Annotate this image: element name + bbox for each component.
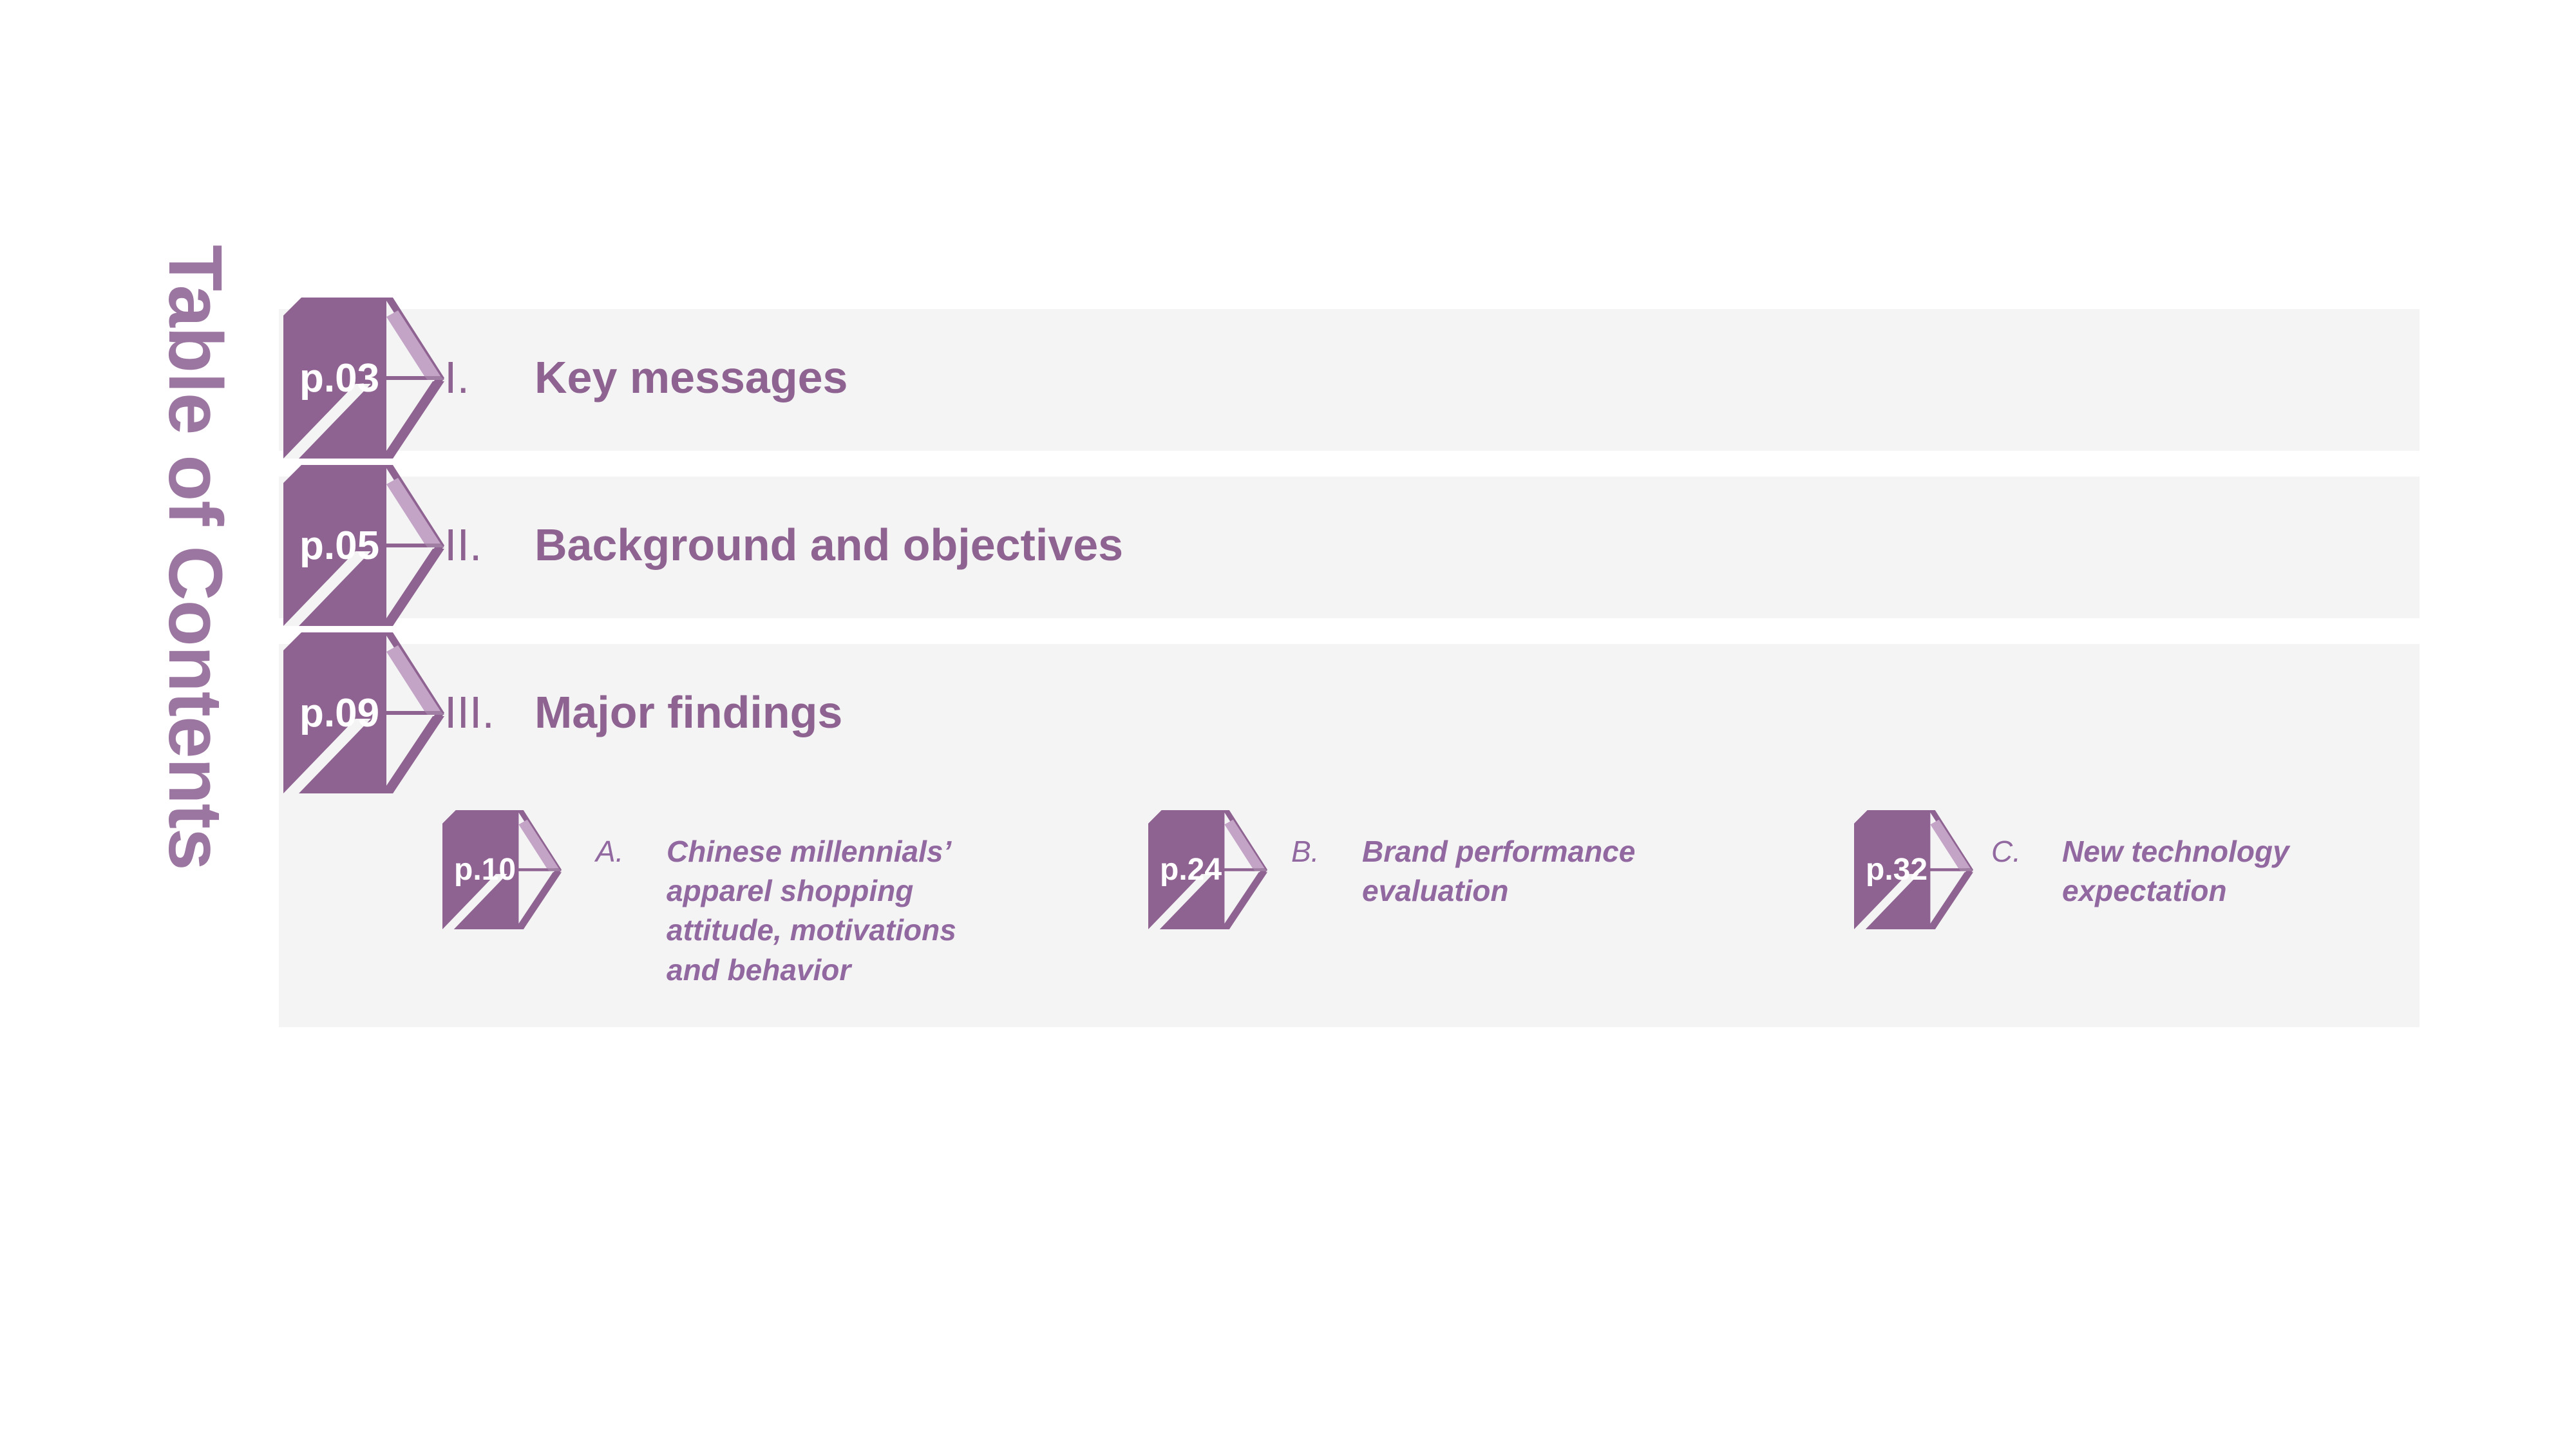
page-badge-subsection-a[interactable]: p.10 xyxy=(442,810,562,929)
section-label-3: Major findings xyxy=(535,688,842,737)
section-label-1: Key messages xyxy=(535,353,848,402)
page-badge-section-3[interactable]: p.09 xyxy=(283,632,444,793)
subsection-numeral-b: B. xyxy=(1291,832,1362,871)
section-title-2[interactable]: II. Background and objectives xyxy=(444,520,1123,570)
arrow-badge-icon xyxy=(283,298,444,459)
subsection-label-a: Chinese millennials’ apparel shopping at… xyxy=(667,832,956,990)
page-badge-section-1[interactable]: p.03 xyxy=(283,298,444,459)
section-numeral-1: I. xyxy=(444,353,535,402)
page-badge-subsection-c[interactable]: p.32 xyxy=(1854,810,1973,929)
page-title: Table of Contents xyxy=(147,245,243,1069)
section-numeral-2: II. xyxy=(444,520,535,570)
arrow-badge-icon xyxy=(283,465,444,626)
section-label-2: Background and objectives xyxy=(535,520,1123,570)
arrow-badge-icon xyxy=(1148,810,1267,929)
subsection-title-b[interactable]: B. Brand performance evaluation xyxy=(1291,832,1703,911)
section-title-1[interactable]: I. Key messages xyxy=(444,353,848,402)
subsection-numeral-a: A. xyxy=(596,832,667,871)
section-title-3[interactable]: III. Major findings xyxy=(444,688,842,737)
subsection-label-c: New technology expectation xyxy=(2062,832,2289,911)
arrow-badge-icon xyxy=(283,632,444,793)
section-numeral-3: III. xyxy=(444,688,535,737)
arrow-badge-icon xyxy=(1854,810,1973,929)
subsection-numeral-c: C. xyxy=(1991,832,2062,871)
subsection-title-a[interactable]: A. Chinese millennials’ apparel shopping… xyxy=(596,832,995,990)
subsection-title-c[interactable]: C. New technology expectation xyxy=(1991,832,2403,911)
arrow-badge-icon xyxy=(442,810,562,929)
subsection-label-b: Brand performance evaluation xyxy=(1362,832,1635,911)
page-badge-subsection-b[interactable]: p.24 xyxy=(1148,810,1267,929)
page-badge-section-2[interactable]: p.05 xyxy=(283,465,444,626)
